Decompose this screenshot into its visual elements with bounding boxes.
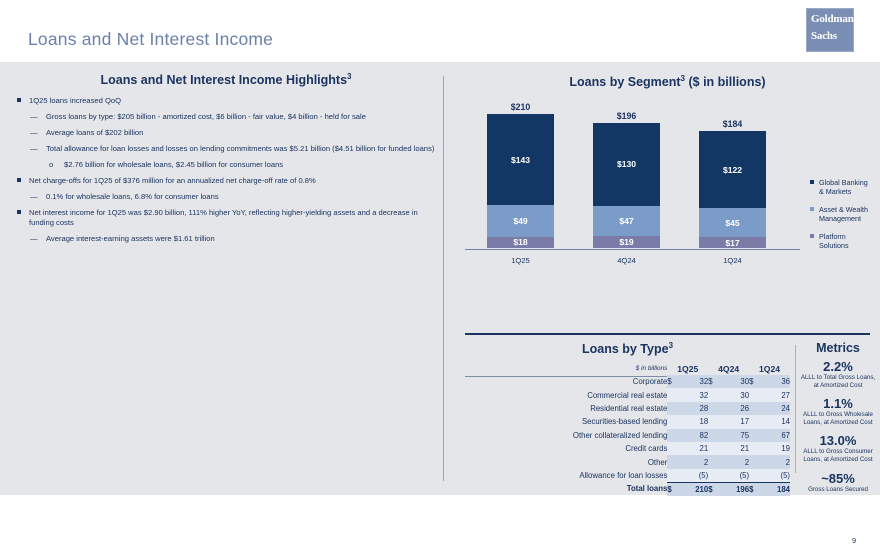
loans-by-type-title: Loans by Type3 bbox=[465, 341, 790, 356]
table-cell-value: 18 bbox=[680, 415, 708, 428]
panel-divider-horizontal bbox=[465, 333, 870, 335]
table-row: Commercial real estate323027 bbox=[465, 388, 790, 401]
table-currency-symbol bbox=[749, 469, 762, 482]
table-cell-value: 17 bbox=[721, 415, 749, 428]
table-currency-symbol bbox=[749, 455, 762, 468]
table-cell-value: (5) bbox=[721, 469, 749, 482]
table-row-label: Commercial real estate bbox=[465, 388, 667, 401]
bar-segment-label: $45 bbox=[725, 218, 739, 228]
legend-swatch-icon bbox=[810, 180, 814, 184]
bar-column: $122$45$17 bbox=[699, 131, 766, 248]
table-cell-value: 82 bbox=[680, 429, 708, 442]
highlights-panel: Loans and Net Interest Income Highlights… bbox=[16, 72, 436, 250]
table-cell-value: 196 bbox=[721, 482, 749, 495]
table-row-label: Other collateralized lending bbox=[465, 429, 667, 442]
table-row-label: Securities-based lending bbox=[465, 415, 667, 428]
highlight-bullet: —Average loans of $202 billion bbox=[16, 128, 436, 138]
table-currency-symbol bbox=[749, 415, 762, 428]
table-cell-value: 24 bbox=[762, 402, 790, 415]
chart-title: Loans by Segment3 ($ in billions) bbox=[465, 74, 870, 89]
table-unit-label: $ in billions bbox=[465, 362, 667, 375]
table-currency-symbol bbox=[667, 415, 680, 428]
metric-caption: Gross Loans Secured bbox=[800, 486, 876, 494]
table-currency-symbol bbox=[749, 429, 762, 442]
table-row: Other222 bbox=[465, 455, 790, 468]
table-cell-value: (5) bbox=[680, 469, 708, 482]
table-currency-symbol bbox=[749, 402, 762, 415]
table-cell-value: 32 bbox=[680, 375, 708, 388]
loans-by-segment-chart: $143$49$18$2101Q25$130$47$19$1964Q24$122… bbox=[465, 98, 870, 266]
bar-segment: $19 bbox=[593, 236, 660, 248]
table-cell-value: 27 bbox=[762, 388, 790, 401]
loans-by-type-title-footnote: 3 bbox=[669, 341, 673, 350]
highlights-title-footnote: 3 bbox=[347, 72, 351, 81]
table-row: Securities-based lending181714 bbox=[465, 415, 790, 428]
chart-legend-item[interactable]: Global Banking & Markets bbox=[810, 178, 872, 196]
table-currency-symbol: $ bbox=[667, 482, 680, 495]
page-number: 9 bbox=[852, 536, 856, 545]
bar-segment: $47 bbox=[593, 206, 660, 236]
dash-bullet-icon: — bbox=[30, 192, 38, 202]
chart-title-suffix: ($ in billions) bbox=[688, 75, 765, 89]
table-head: $ in billions 1Q254Q241Q24 bbox=[465, 362, 790, 375]
highlight-bullet: —0.1% for wholesale loans, 6.8% for cons… bbox=[16, 192, 436, 202]
legend-swatch-icon bbox=[810, 234, 814, 238]
metric-block: ~85%Gross Loans Secured bbox=[800, 471, 876, 494]
table-currency-symbol bbox=[708, 442, 721, 455]
bar-segment: $17 bbox=[699, 237, 766, 248]
table-row-label: Total loans bbox=[465, 482, 667, 495]
dash-bullet-icon: — bbox=[30, 128, 38, 138]
table-row-label: Other bbox=[465, 455, 667, 468]
bar-segment-label: $143 bbox=[511, 155, 530, 165]
table-cell-value: 36 bbox=[762, 375, 790, 388]
metric-value: 2.2% bbox=[800, 359, 876, 374]
table-row: Residential real estate282624 bbox=[465, 402, 790, 415]
chart-legend-label: Platform Solutions bbox=[819, 232, 849, 250]
bar-segment: $18 bbox=[487, 237, 554, 248]
table-currency-symbol bbox=[667, 388, 680, 401]
chart-x-axis-label: 1Q24 bbox=[699, 256, 766, 265]
table-header-row: $ in billions 1Q254Q241Q24 bbox=[465, 362, 790, 375]
chart-plot-area: $143$49$18$2101Q25$130$47$19$1964Q24$122… bbox=[465, 98, 800, 266]
panel-divider-vertical bbox=[443, 76, 444, 481]
page-title: Loans and Net Interest Income bbox=[28, 29, 273, 50]
table-currency-symbol bbox=[708, 415, 721, 428]
highlight-bullet-text: Net charge-offs for 1Q25 of $376 million… bbox=[29, 176, 316, 185]
chart-axis-line bbox=[465, 249, 800, 250]
highlight-bullet-text: $2.76 billion for wholesale loans, $2.45… bbox=[64, 160, 283, 169]
table-row: Corporate$32$30$36 bbox=[465, 375, 790, 388]
slide-body: Loans and Net Interest Income Highlights… bbox=[0, 62, 880, 495]
bar-segment-label: $17 bbox=[725, 238, 739, 248]
table-cell-value: 210 bbox=[680, 482, 708, 495]
loans-by-type-table: $ in billions 1Q254Q241Q24 Corporate$32$… bbox=[465, 362, 790, 496]
table-cell-value: 2 bbox=[762, 455, 790, 468]
metric-caption: ALLL to Gross Consumer Loans, at Amortiz… bbox=[800, 448, 876, 463]
bar-segment: $130 bbox=[593, 123, 660, 206]
highlight-bullet: —Average interest-earning assets were $1… bbox=[16, 234, 436, 244]
legend-swatch-icon bbox=[810, 207, 814, 211]
table-row: Other collateralized lending827567 bbox=[465, 429, 790, 442]
table-cell-value: 14 bbox=[762, 415, 790, 428]
table-currency-symbol bbox=[667, 402, 680, 415]
metric-caption: ALLL to Gross Wholesale Loans, at Amorti… bbox=[800, 411, 876, 426]
highlights-title: Loans and Net Interest Income Highlights… bbox=[16, 72, 436, 87]
table-currency-symbol bbox=[667, 442, 680, 455]
chart-legend-item[interactable]: Asset & Wealth Management bbox=[810, 205, 872, 223]
metric-caption: ALLL to Total Gross Loans, at Amortized … bbox=[800, 374, 876, 389]
table-cell-value: 21 bbox=[680, 442, 708, 455]
table-cell-value: 2 bbox=[721, 455, 749, 468]
chart-legend-item[interactable]: Platform Solutions bbox=[810, 232, 872, 250]
chart-legend: Global Banking & MarketsAsset & Wealth M… bbox=[810, 178, 872, 259]
bar-segment-label: $47 bbox=[619, 216, 633, 226]
slide-header: Loans and Net Interest Income Goldman Sa… bbox=[0, 0, 880, 62]
table-currency-symbol: $ bbox=[708, 375, 721, 388]
circle-bullet-icon: o bbox=[49, 160, 53, 170]
dash-bullet-icon: — bbox=[30, 234, 38, 244]
highlight-bullet: Net interest income for 1Q25 was $2.90 b… bbox=[16, 208, 436, 228]
table-row-label: Residential real estate bbox=[465, 402, 667, 415]
table-row: Total loans$210$196$184 bbox=[465, 482, 790, 495]
table-currency-symbol bbox=[708, 429, 721, 442]
table-cell-value: 30 bbox=[721, 388, 749, 401]
loans-by-type-title-text: Loans by Type bbox=[582, 342, 669, 356]
bar-segment-label: $18 bbox=[513, 237, 527, 247]
highlight-bullet-text: Average loans of $202 billion bbox=[46, 128, 143, 137]
dash-bullet-icon: — bbox=[30, 144, 38, 154]
table-cell-value: 184 bbox=[762, 482, 790, 495]
table-currency-symbol bbox=[749, 388, 762, 401]
loans-by-type-table-wrap: $ in billions 1Q254Q241Q24 Corporate$32$… bbox=[465, 362, 790, 496]
highlight-bullet-text: 1Q25 loans increased QoQ bbox=[29, 96, 121, 105]
highlights-bullet-list: 1Q25 loans increased QoQ—Gross loans by … bbox=[16, 96, 436, 244]
highlight-bullet-text: 0.1% for wholesale loans, 6.8% for consu… bbox=[46, 192, 219, 201]
table-cell-value: 30 bbox=[721, 375, 749, 388]
table-row: Allowance for loan losses(5)(5)(5) bbox=[465, 469, 790, 482]
bar-segment-label: $49 bbox=[513, 216, 527, 226]
bar-column: $130$47$19 bbox=[593, 123, 660, 248]
logo-text-line2: Sachs bbox=[807, 26, 853, 43]
metric-block: 13.0%ALLL to Gross Consumer Loans, at Am… bbox=[800, 433, 876, 463]
bar-total-label: $210 bbox=[487, 102, 554, 112]
highlight-bullet: —Total allowance for loan losses and los… bbox=[16, 144, 436, 154]
chart-legend-label: Global Banking & Markets bbox=[819, 178, 868, 196]
table-currency-symbol bbox=[667, 429, 680, 442]
highlights-title-text: Loans and Net Interest Income Highlights bbox=[100, 73, 347, 87]
highlight-bullet-text: Net interest income for 1Q25 was $2.90 b… bbox=[29, 208, 418, 227]
highlight-bullet: o$2.76 billion for wholesale loans, $2.4… bbox=[16, 160, 436, 170]
table-cell-value: 2 bbox=[680, 455, 708, 468]
highlight-bullet: 1Q25 loans increased QoQ bbox=[16, 96, 436, 106]
table-column-header: 4Q24 bbox=[708, 362, 749, 375]
table-column-header: 1Q24 bbox=[749, 362, 790, 375]
square-bullet-icon bbox=[17, 178, 21, 182]
table-row-label: Allowance for loan losses bbox=[465, 469, 667, 482]
table-currency-symbol bbox=[708, 469, 721, 482]
table-currency-symbol: $ bbox=[749, 482, 762, 495]
table-currency-symbol bbox=[667, 469, 680, 482]
dash-bullet-icon: — bbox=[30, 112, 38, 122]
bar-total-label: $184 bbox=[699, 119, 766, 129]
highlight-bullet-text: Gross loans by type: $205 billion - amor… bbox=[46, 112, 366, 121]
bar-total-label: $196 bbox=[593, 111, 660, 121]
metrics-divider-vertical bbox=[795, 345, 796, 473]
bar-segment: $122 bbox=[699, 131, 766, 209]
table-cell-value: 21 bbox=[721, 442, 749, 455]
highlight-bullet: —Gross loans by type: $205 billion - amo… bbox=[16, 112, 436, 122]
logo-text-line1: Goldman bbox=[807, 9, 853, 26]
goldman-sachs-logo: Goldman Sachs bbox=[806, 8, 854, 52]
table-currency-symbol: $ bbox=[708, 482, 721, 495]
metric-value: 1.1% bbox=[800, 396, 876, 411]
table-cell-value: 28 bbox=[680, 402, 708, 415]
table-row: Credit cards212119 bbox=[465, 442, 790, 455]
square-bullet-icon bbox=[17, 210, 21, 214]
highlight-bullet-text: Total allowance for loan losses and loss… bbox=[46, 144, 434, 153]
table-currency-symbol bbox=[667, 455, 680, 468]
table-currency-symbol bbox=[749, 442, 762, 455]
metric-block: 2.2%ALLL to Total Gross Loans, at Amorti… bbox=[800, 359, 876, 389]
highlight-bullet: Net charge-offs for 1Q25 of $376 million… bbox=[16, 176, 436, 186]
table-cell-value: 32 bbox=[680, 388, 708, 401]
table-cell-value: 19 bbox=[762, 442, 790, 455]
highlight-bullet-text: Average interest-earning assets were $1.… bbox=[46, 234, 215, 243]
chart-title-footnote: 3 bbox=[681, 74, 685, 83]
metrics-panel: Metrics 2.2%ALLL to Total Gross Loans, a… bbox=[800, 341, 876, 500]
bar-segment-label: $122 bbox=[723, 165, 742, 175]
metrics-list: 2.2%ALLL to Total Gross Loans, at Amorti… bbox=[800, 359, 876, 493]
table-currency-symbol bbox=[708, 402, 721, 415]
table-cell-value: 75 bbox=[721, 429, 749, 442]
bar-segment: $143 bbox=[487, 114, 554, 205]
bar-segment: $49 bbox=[487, 205, 554, 236]
table-currency-symbol bbox=[708, 455, 721, 468]
bar-segment: $45 bbox=[699, 208, 766, 237]
table-currency-symbol: $ bbox=[749, 375, 762, 388]
chart-x-axis-label: 1Q25 bbox=[487, 256, 554, 265]
bar-segment-label: $130 bbox=[617, 159, 636, 169]
metric-value: 13.0% bbox=[800, 433, 876, 448]
bar-segment-label: $19 bbox=[619, 237, 633, 247]
table-currency-symbol: $ bbox=[667, 375, 680, 388]
table-currency-symbol bbox=[708, 388, 721, 401]
table-cell-value: 67 bbox=[762, 429, 790, 442]
chart-legend-label: Asset & Wealth Management bbox=[819, 205, 868, 223]
metric-value: ~85% bbox=[800, 471, 876, 486]
table-row-label: Credit cards bbox=[465, 442, 667, 455]
table-body: Corporate$32$30$36Commercial real estate… bbox=[465, 375, 790, 496]
chart-title-text: Loans by Segment bbox=[569, 75, 680, 89]
chart-x-axis-label: 4Q24 bbox=[593, 256, 660, 265]
table-cell-value: (5) bbox=[762, 469, 790, 482]
bar-column: $143$49$18 bbox=[487, 114, 554, 248]
table-cell-value: 26 bbox=[721, 402, 749, 415]
metric-block: 1.1%ALLL to Gross Wholesale Loans, at Am… bbox=[800, 396, 876, 426]
table-column-header: 1Q25 bbox=[667, 362, 708, 375]
metrics-title: Metrics bbox=[800, 341, 876, 355]
square-bullet-icon bbox=[17, 98, 21, 102]
table-row-label: Corporate bbox=[465, 375, 667, 388]
